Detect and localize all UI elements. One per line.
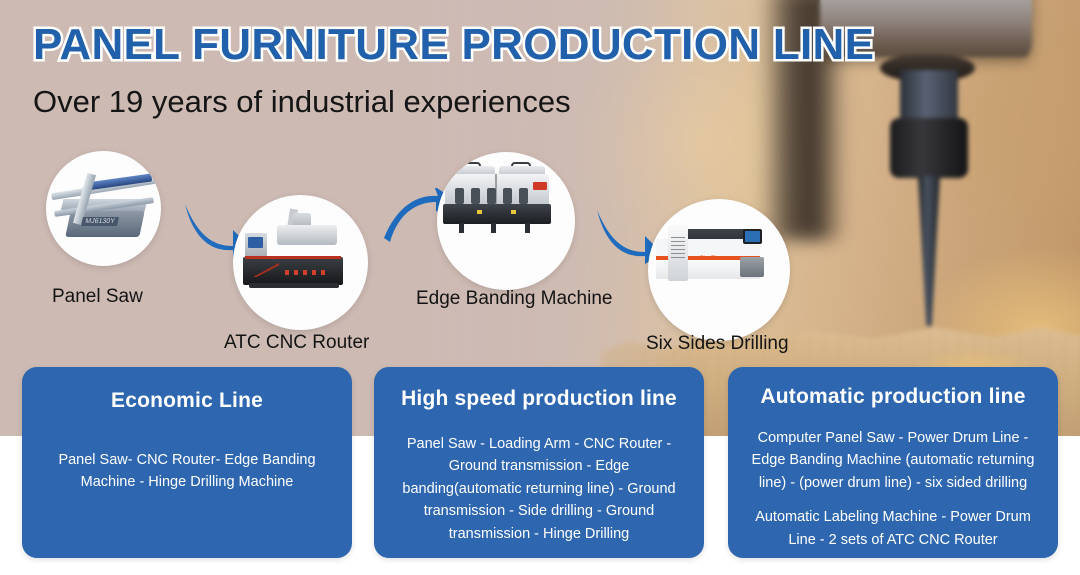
page-title: PANEL FURNITURE PRODUCTION LINE [33,20,874,70]
flow-step-label-panel-saw: Panel Saw [52,286,143,308]
panel-body-high-speed: Panel Saw - Loading Arm - CNC Router - G… [374,411,704,545]
banner-root: PANEL FURNITURE PRODUCTION LINE Over 19 … [0,0,1080,575]
panel-economic-line[interactable]: Economic Line Panel Saw- CNC Router- Edg… [22,367,352,558]
flow-step-label-edge-banding: Edge Banding Machine [416,288,612,310]
panel-automatic-production-line[interactable]: Automatic production line Computer Panel… [728,367,1058,558]
edge-banding-machine-icon [437,152,575,290]
flow-step-atc-cnc-router[interactable] [233,195,368,330]
panel-title-high-speed: High speed production line [374,367,704,411]
cnc-router-machine-icon [233,195,368,330]
flow-step-label-atc-cnc-router: ATC CNC Router [224,332,369,354]
panel-body-automatic-1: Computer Panel Saw - Power Drum Line - E… [728,409,1058,494]
flow-step-six-sides-drilling[interactable]: SinoDivo [648,199,790,341]
panel-title-economic: Economic Line [22,367,352,413]
six-sides-drilling-machine-icon: SinoDivo [648,199,790,341]
flow-step-label-six-sides-drilling: Six Sides Drilling [646,333,789,355]
flow-step-edge-banding[interactable] [437,152,575,290]
panel-title-automatic: Automatic production line [728,367,1058,409]
page-subtitle: Over 19 years of industrial experiences [33,84,571,120]
flow-step-panel-saw[interactable]: MJ6130Y [46,151,161,266]
panel-body-economic: Panel Saw- CNC Router- Edge Banding Mach… [22,413,352,494]
panel-saw-machine-icon: MJ6130Y [46,151,161,266]
panel-high-speed-production-line[interactable]: High speed production line Panel Saw - L… [374,367,704,558]
panel-body-automatic-2: Automatic Labeling Machine - Power Drum … [728,494,1058,551]
drill-chuck-icon [890,118,968,178]
drill-shaft-icon [900,70,958,125]
